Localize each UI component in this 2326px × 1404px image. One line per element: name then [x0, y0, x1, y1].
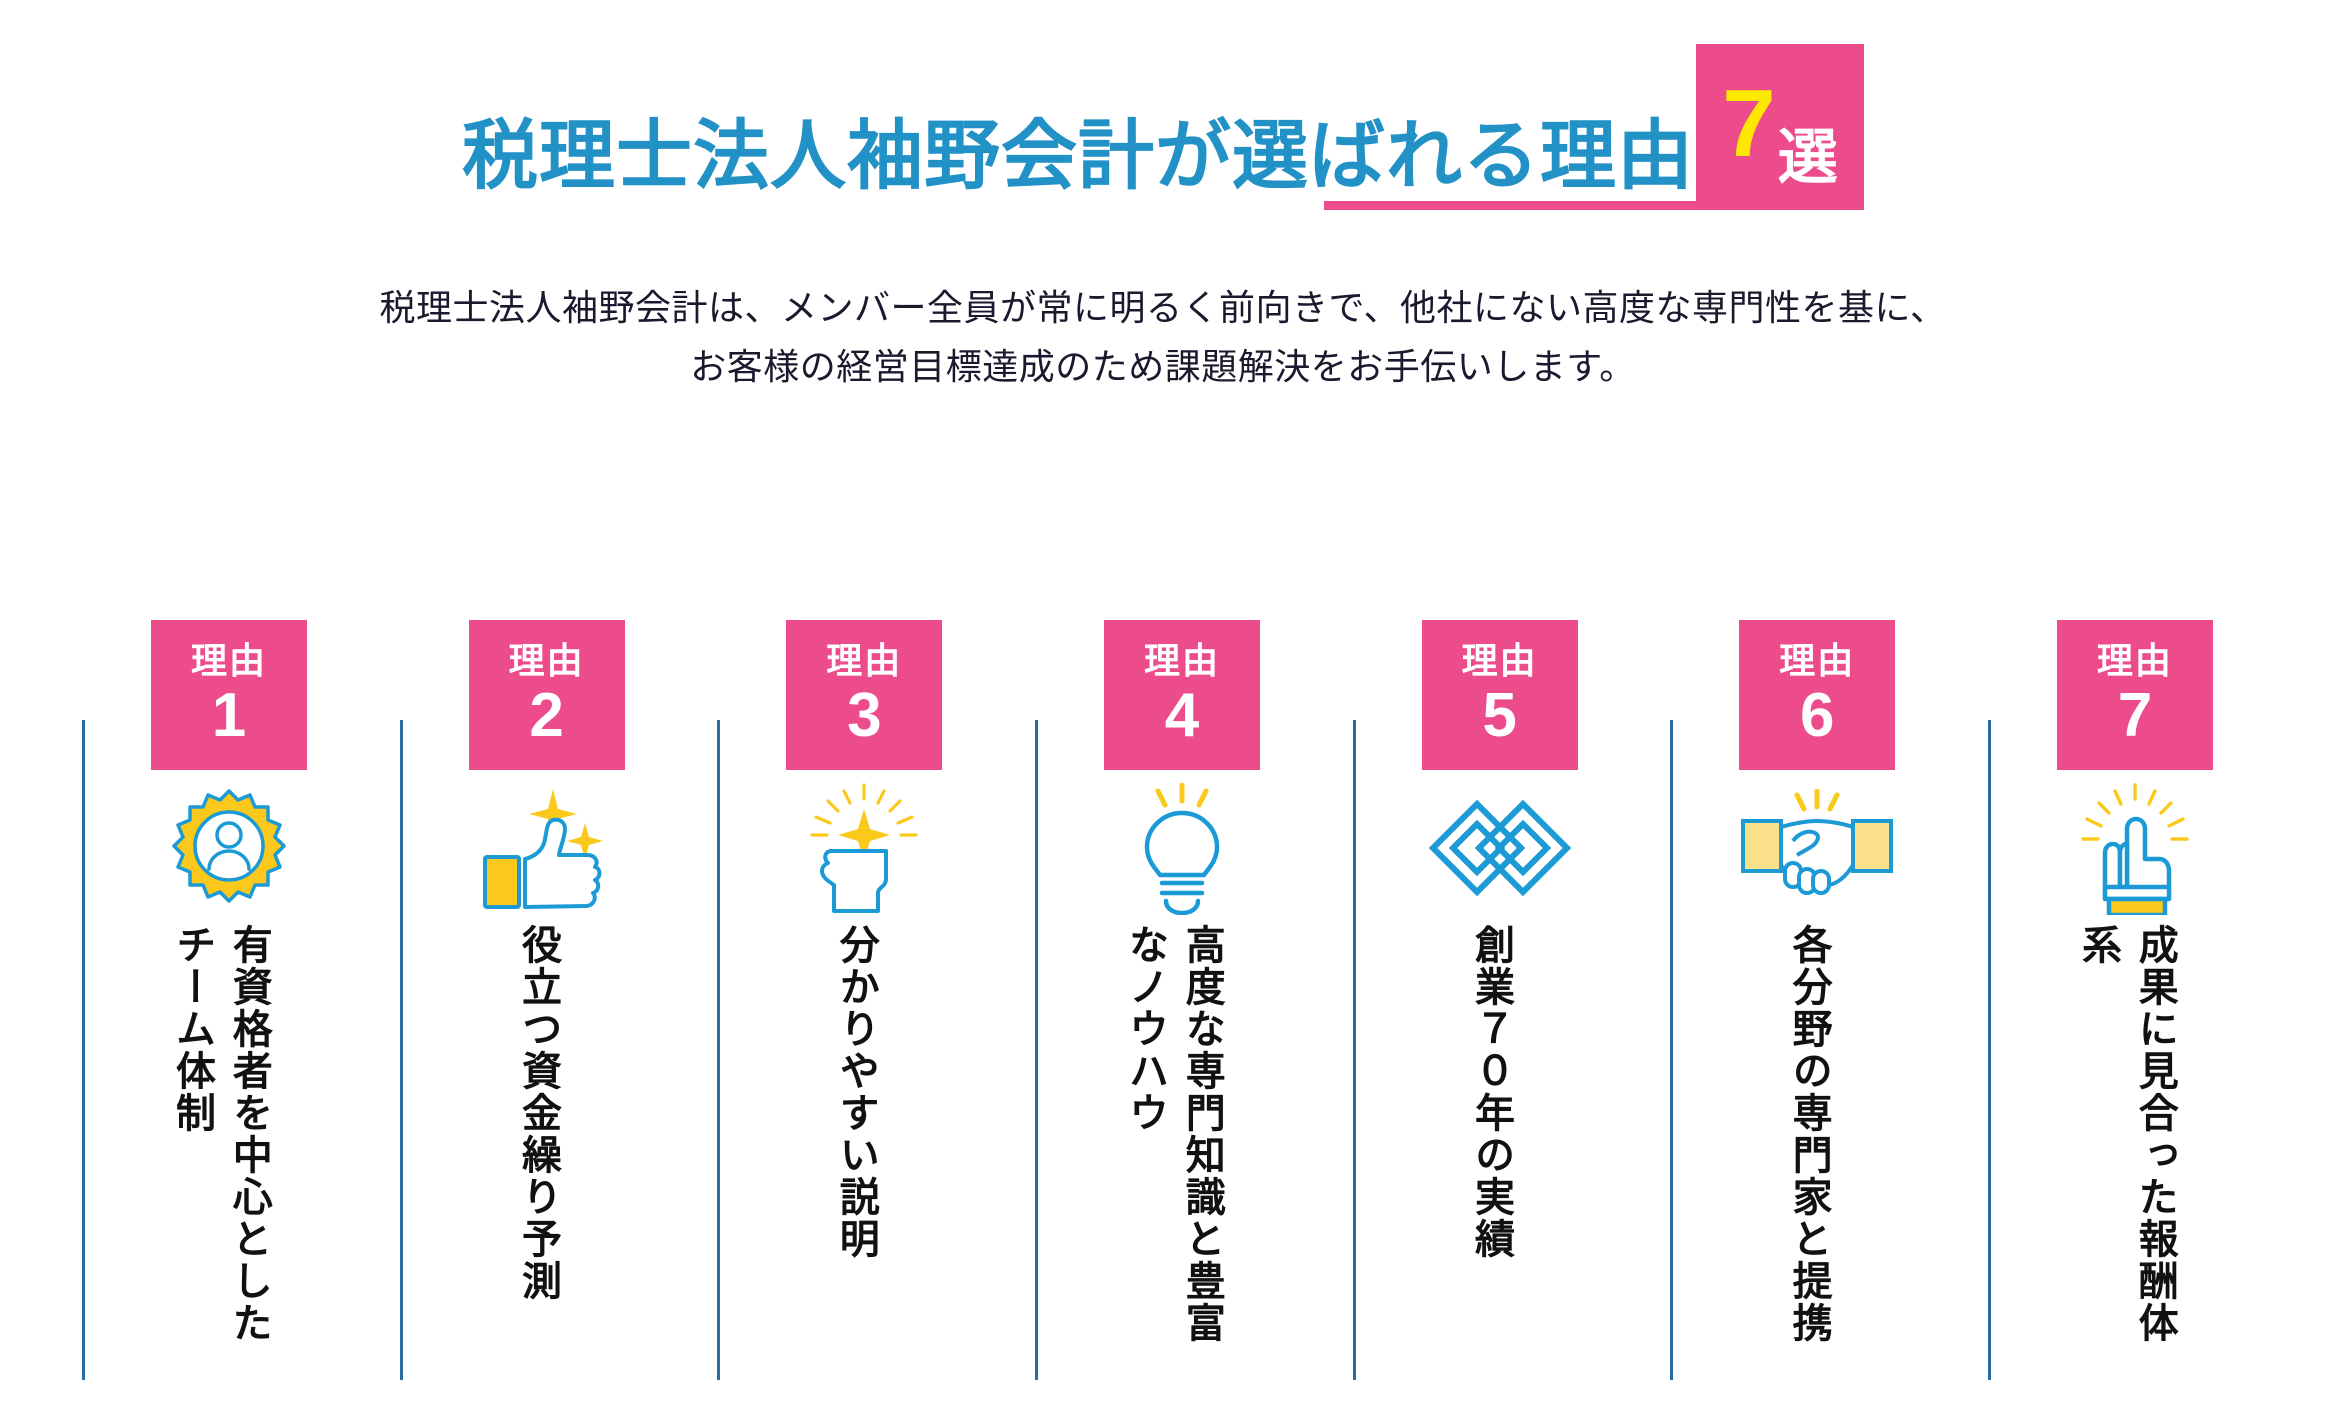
- heading-inner: 税理士法人袖野会計が選ばれる理由 7 選: [462, 44, 1864, 212]
- reason-badge-number: 6: [1800, 685, 1834, 747]
- reason-badge-label: 理由: [191, 643, 267, 679]
- reason-badge-number: 5: [1482, 685, 1516, 747]
- reason-badge-label: 理由: [509, 643, 585, 679]
- reason-card-1: 理由 1 有資格者を中心としたチーム体制: [60, 620, 360, 1380]
- reason-text-7: 成果に見合った報酬体系: [2069, 924, 2183, 1364]
- reason-badge-number: 2: [529, 685, 563, 747]
- reason-badge-2: 理由 2: [469, 620, 625, 770]
- subtitle-line-2: お客様の経営目標達成のため課題解決をお手伝いします。: [0, 337, 2326, 396]
- reason-text-3: 分かりやすい説明: [827, 924, 884, 1364]
- reason-badge-4: 理由 4: [1104, 620, 1260, 770]
- reason-badge-7: 理由 7: [2057, 620, 2213, 770]
- reason-text-2: 役立つ資金繰り予測: [509, 924, 566, 1364]
- card-divider: [400, 720, 403, 1380]
- interlocking-diamonds-icon: [1410, 784, 1590, 914]
- reason-text-5: 創業７０年の実績: [1462, 924, 1519, 1364]
- reason-badge-label: 理由: [826, 643, 902, 679]
- reason-badge-number: 1: [212, 685, 246, 747]
- reason-badge-6: 理由 6: [1739, 620, 1895, 770]
- reason-badge-1: 理由 1: [151, 620, 307, 770]
- award-badge-person-icon: [139, 784, 319, 914]
- head-idea-sparkle-icon: [774, 784, 954, 914]
- page-heading: 税理士法人袖野会計が選ばれる理由 7 選: [0, 44, 2326, 212]
- reasons-section: 税理士法人袖野会計が選ばれる理由 7 選 税理士法人袖野会計は、メンバー全員が常…: [0, 0, 2326, 1404]
- subtitle-line-1: 税理士法人袖野会計は、メンバー全員が常に明るく前向きで、他社にない高度な専門性を…: [0, 278, 2326, 337]
- heading-count-badge: 7 選: [1696, 44, 1864, 204]
- reason-badge-label: 理由: [1462, 643, 1538, 679]
- heading-count-number: 7: [1722, 76, 1775, 172]
- heading-title: 税理士法人袖野会計が選ばれる理由: [462, 116, 1694, 212]
- reason-card-2: 理由 2 役立つ資金繰り予測: [378, 620, 678, 1380]
- reason-card-4: 理由 4 高度な専門知識と豊: [1013, 620, 1313, 1380]
- reason-card-list: 理由 1 有資格者を中心としたチーム体制 理由 2: [60, 620, 2266, 1380]
- reason-badge-label: 理由: [1144, 643, 1220, 679]
- reason-text-1: 有資格者を中心としたチーム体制: [163, 924, 277, 1364]
- pointing-finger-up-icon: [2045, 784, 2225, 914]
- reason-card-6: 理由 6: [1648, 620, 1948, 1380]
- reason-badge-5: 理由 5: [1422, 620, 1578, 770]
- card-divider: [1353, 720, 1356, 1380]
- heading-count-suffix: 選: [1778, 128, 1838, 188]
- reason-card-5: 理由 5 創業７０年の実績: [1331, 620, 1631, 1380]
- reason-badge-label: 理由: [1779, 643, 1855, 679]
- reason-badge-number: 4: [1165, 685, 1199, 747]
- card-divider: [82, 720, 85, 1380]
- card-divider: [1035, 720, 1038, 1380]
- card-divider: [1670, 720, 1673, 1380]
- reason-card-3: 理由 3: [695, 620, 995, 1380]
- lightbulb-icon: [1092, 784, 1272, 914]
- thumbs-up-sparkle-icon: [457, 784, 637, 914]
- card-divider: [717, 720, 720, 1380]
- reason-badge-label: 理由: [2097, 643, 2173, 679]
- reason-card-7: 理由 7: [1966, 620, 2266, 1380]
- handshake-icon: [1727, 784, 1907, 914]
- reason-badge-3: 理由 3: [786, 620, 942, 770]
- reason-text-4: 高度な専門知識と豊富なノウハウ: [1116, 924, 1230, 1364]
- reason-badge-number: 7: [2118, 685, 2152, 747]
- card-divider: [1988, 720, 1991, 1380]
- section-subtitle: 税理士法人袖野会計は、メンバー全員が常に明るく前向きで、他社にない高度な専門性を…: [0, 278, 2326, 397]
- reason-text-6: 各分野の専門家と提携: [1780, 924, 1837, 1364]
- reason-badge-number: 3: [847, 685, 881, 747]
